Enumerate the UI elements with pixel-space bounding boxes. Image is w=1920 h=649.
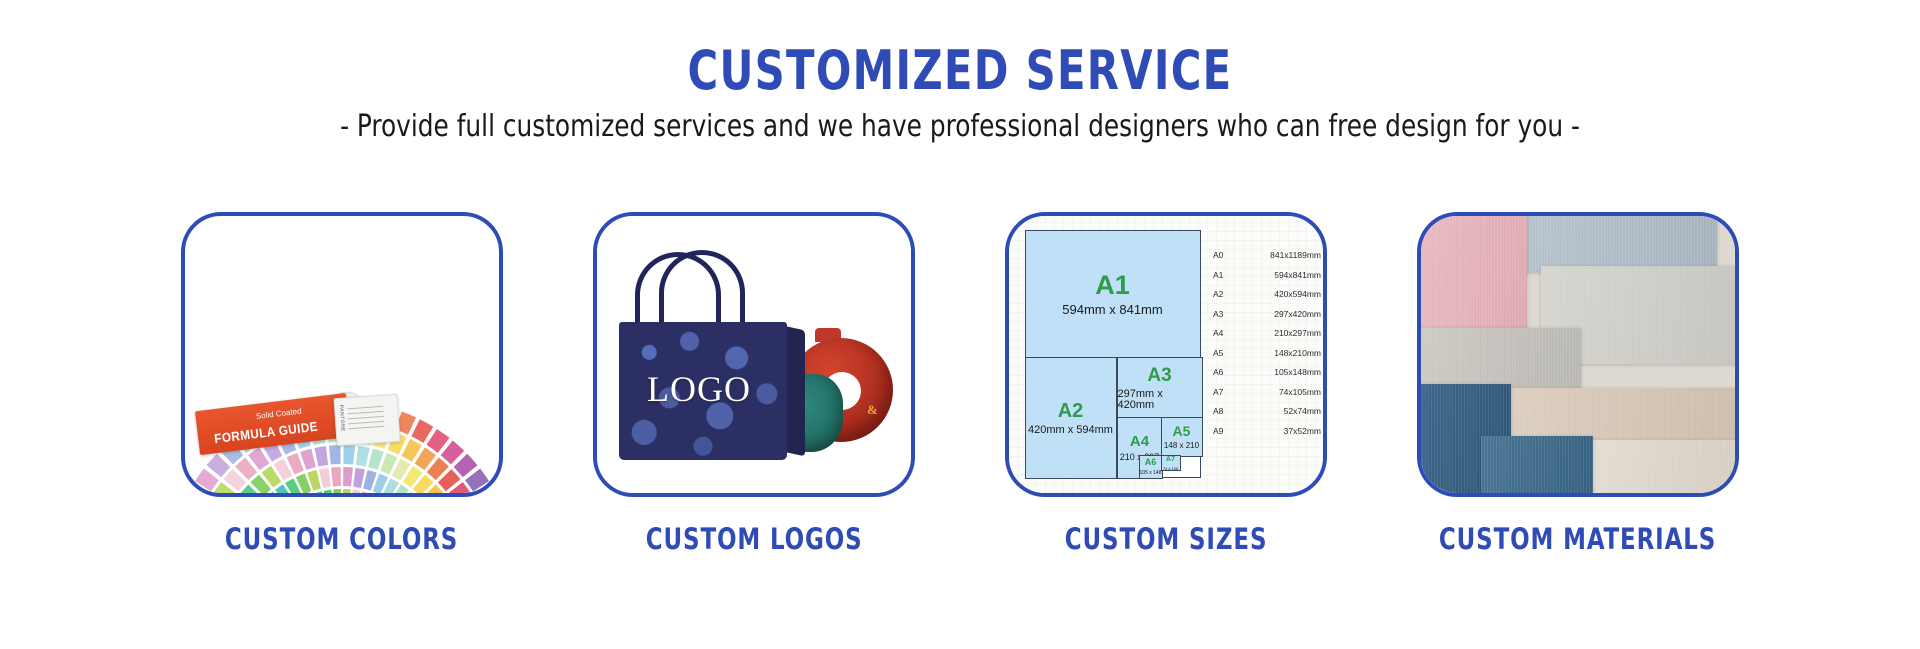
paper-size-list-row: A2420x594mm: [1213, 289, 1321, 299]
fabric-swatch-gray-mid: [1421, 328, 1581, 390]
paper-box-a1-name: A1: [1095, 272, 1130, 299]
paper-size-list-dims: 37x52mm: [1235, 426, 1321, 436]
page-subtitle: - Provide full customized services and w…: [77, 112, 1843, 142]
fabric-swatch-navy-bottom: [1481, 436, 1593, 493]
paper-size-list-row: A5148x210mm: [1213, 348, 1321, 358]
paper-size-list-row: A937x52mm: [1213, 426, 1321, 436]
paper-box-a7-name: A7: [1166, 456, 1175, 463]
paper-size-list-dims: 420x594mm: [1235, 289, 1321, 299]
paper-box-a6-name: A6: [1145, 458, 1157, 467]
paper-size-list-row: A1594x841mm: [1213, 270, 1321, 280]
paper-size-list-name: A8: [1213, 406, 1235, 416]
pantone-fan-image: FORMULA GUIDE Solid Coated PANTONE: [185, 216, 499, 493]
paper-size-list-dims: 297x420mm: [1235, 309, 1321, 319]
fan-blade: [343, 467, 353, 486]
paper-box-a3: A3 297mm x 420mm: [1117, 357, 1203, 419]
paper-size-list-dims: 148x210mm: [1235, 348, 1321, 358]
fan-blade: [305, 494, 319, 497]
fan-blade: [343, 445, 355, 465]
paper-box-a3-name: A3: [1147, 366, 1171, 385]
paper-size-list-name: A3: [1213, 309, 1235, 319]
fabric-swatch-blue-gray-top: [1517, 216, 1717, 272]
fan-blade: [350, 490, 360, 497]
paper-size-list-name: A5: [1213, 348, 1235, 358]
paper-size-list-name: A4: [1213, 328, 1235, 338]
paper-size-list-dims: 210x297mm: [1235, 328, 1321, 338]
formula-guide-subtitle: Solid Coated: [255, 406, 302, 421]
paper-size-list-name: A0: [1213, 250, 1235, 260]
paper-size-list-name: A6: [1213, 367, 1235, 377]
swatch-lines: [347, 406, 385, 433]
fan-blade: [353, 468, 365, 488]
fan-blade: [205, 496, 228, 497]
paper-size-list-name: A2: [1213, 289, 1235, 299]
fan-blade: [319, 468, 331, 488]
fan-blade: [333, 489, 341, 497]
paper-box-a5: A5 148 x 210: [1161, 417, 1203, 457]
fan-blade: [324, 490, 334, 497]
card-label-custom-colors: CUSTOM COLORS: [225, 522, 458, 556]
paper-size-list-row: A3297x420mm: [1213, 309, 1321, 319]
card-label-custom-logos: CUSTOM LOGOS: [646, 522, 863, 556]
fabric-swatch-cream: [1587, 440, 1735, 493]
pillow-logo-mark: &: [867, 402, 878, 418]
paper-size-list-dims: 74x105mm: [1235, 387, 1321, 397]
card-image-frame-logos: & LOGO: [593, 212, 915, 497]
paper-box-a7-dims: 74 x 105: [1163, 467, 1178, 471]
paper-size-list-row: A774x105mm: [1213, 387, 1321, 397]
card-label-custom-sizes: CUSTOM SIZES: [1065, 522, 1268, 556]
paper-size-list-row: A852x74mm: [1213, 406, 1321, 416]
fan-blade: [232, 496, 254, 497]
fabric-swatches-image: [1421, 216, 1735, 493]
paper-box-a2-name: A2: [1058, 401, 1084, 421]
card-image-frame-materials: [1417, 212, 1739, 497]
paper-box-a1-dims: 594mm x 841mm: [1062, 303, 1162, 316]
paper-box-a3-dims: 297mm x 420mm: [1118, 389, 1202, 411]
fan-blade: [356, 446, 370, 467]
paper-size-chart-image: A1 594mm x 841mm A2 420mm x 594mm A3 297…: [1009, 216, 1323, 493]
paper-box-a2: A2 420mm x 594mm: [1025, 357, 1117, 479]
paper-size-list-dims: 105x148mm: [1235, 367, 1321, 377]
paper-box-a5-name: A5: [1173, 424, 1191, 438]
customized-service-banner: CUSTOMIZED SERVICE - Provide full custom…: [0, 0, 1920, 649]
pantone-brand-text: PANTONE: [338, 405, 346, 433]
fan-blade: [331, 467, 341, 486]
paper-box-a7: A7 74 x 105: [1161, 455, 1181, 471]
bag-handle-right: [659, 250, 745, 328]
pantone-swatch-card: PANTONE: [333, 394, 400, 446]
paper-size-list-row: A0841x1189mm: [1213, 250, 1321, 260]
fan-blade: [368, 449, 384, 470]
fan-blade: [300, 449, 316, 470]
page-title: CUSTOMIZED SERVICE: [134, 44, 1785, 98]
paper-size-list: A0841x1189mmA1594x841mmA2420x594mmA3297x…: [1213, 250, 1321, 445]
card-image-frame-colors: FORMULA GUIDE Solid Coated PANTONE: [181, 212, 503, 497]
fan-blade: [430, 496, 452, 497]
fabric-swatch-pink: [1421, 216, 1527, 334]
feature-card-custom-materials[interactable]: CUSTOM MATERIALS: [1417, 212, 1739, 556]
paper-box-a4-name: A4: [1130, 434, 1149, 449]
feature-card-custom-logos[interactable]: & LOGO CUSTOM LOGOS: [593, 212, 915, 556]
fabric-swatch-beige: [1501, 388, 1735, 442]
paper-size-list-row: A6105x148mm: [1213, 367, 1321, 377]
paper-size-list-dims: 841x1189mm: [1235, 250, 1321, 260]
fan-blade: [329, 445, 341, 465]
paper-box-a1: A1 594mm x 841mm: [1025, 230, 1201, 358]
tote-bag-image: & LOGO: [597, 216, 911, 493]
paper-size-list-row: A4210x297mm: [1213, 328, 1321, 338]
fan-blade: [456, 496, 479, 497]
paper-size-list-dims: 594x841mm: [1235, 270, 1321, 280]
feature-card-custom-sizes[interactable]: A1 594mm x 841mm A2 420mm x 594mm A3 297…: [1005, 212, 1327, 556]
paper-box-a6: A6 105 x 148: [1139, 455, 1163, 479]
feature-card-custom-colors[interactable]: FORMULA GUIDE Solid Coated PANTONE CUSTO…: [181, 212, 503, 556]
formula-guide-title: FORMULA GUIDE: [213, 419, 318, 447]
paper-size-diagram: A1 594mm x 841mm A2 420mm x 594mm A3 297…: [1025, 230, 1201, 478]
paper-size-list-name: A1: [1213, 270, 1235, 280]
paper-box-a2-dims: 420mm x 594mm: [1028, 425, 1113, 436]
card-label-custom-materials: CUSTOM MATERIALS: [1439, 522, 1716, 556]
fan-blade: [343, 489, 351, 497]
card-image-frame-sizes: A1 594mm x 841mm A2 420mm x 594mm A3 297…: [1005, 212, 1327, 497]
paper-size-list-name: A7: [1213, 387, 1235, 397]
paper-box-a5-dims: 148 x 210: [1164, 442, 1199, 450]
paper-size-list-dims: 52x74mm: [1235, 406, 1321, 416]
paper-size-list-name: A9: [1213, 426, 1235, 436]
fan-blade: [314, 446, 328, 467]
bag-logo-text: LOGO: [647, 368, 751, 410]
paper-box-a6-dims: 105 x 148: [1140, 471, 1162, 476]
fan-blade: [365, 494, 379, 497]
fan-blade: [411, 419, 433, 443]
feature-card-row: FORMULA GUIDE Solid Coated PANTONE CUSTO…: [0, 212, 1920, 556]
